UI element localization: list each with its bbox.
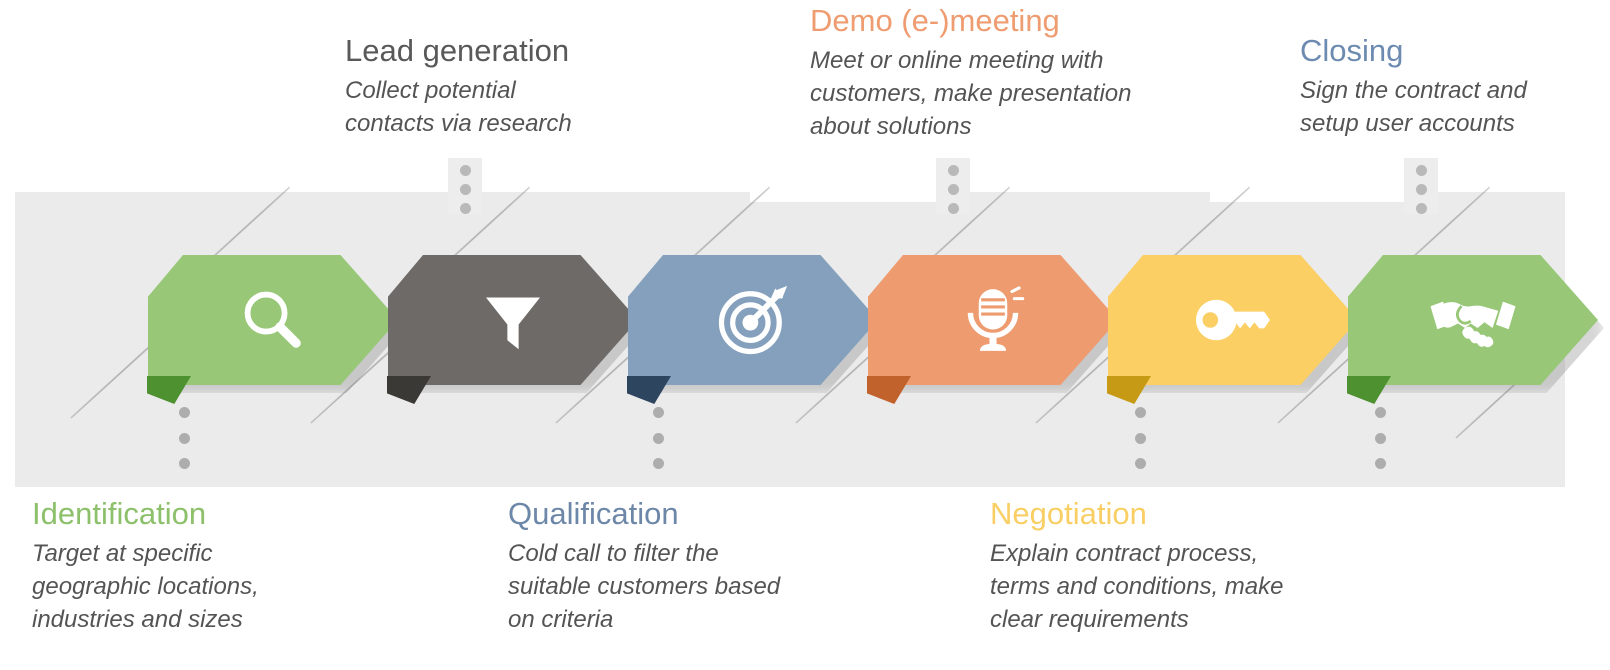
connector-dots-lead-generation xyxy=(448,158,482,214)
stage-arrow-lead-generation[interactable] xyxy=(388,255,638,385)
dot xyxy=(179,407,190,418)
caption-line: contacts via research xyxy=(345,107,665,140)
caption-line: Target at specific xyxy=(32,537,362,570)
caption-line: terms and conditions, make xyxy=(990,570,1350,603)
caption-description: Meet or online meeting with customers, m… xyxy=(810,44,1210,143)
connector-dots-closing-lower xyxy=(1363,407,1397,469)
dot xyxy=(948,165,959,176)
stage-arrow-demo-e-meeting[interactable] xyxy=(868,255,1118,385)
caption-title: Negotiation xyxy=(990,495,1350,533)
process-diagram: Lead generation Collect potential contac… xyxy=(0,0,1610,670)
caption-line: geographic locations, xyxy=(32,570,362,603)
dot xyxy=(653,433,664,444)
caption-title: Identification xyxy=(32,495,362,533)
caption-demo-e-meeting: Demo (e-)meeting Meet or online meeting … xyxy=(810,2,1210,143)
dot xyxy=(1416,184,1427,195)
caption-description: Target at specific geographic locations,… xyxy=(32,537,362,636)
caption-closing: Closing Sign the contract and setup user… xyxy=(1300,32,1610,140)
band-notch xyxy=(1210,192,1410,202)
connector-dots-qualification xyxy=(641,407,675,469)
stage-arrow-negotiation[interactable] xyxy=(1108,255,1358,385)
dot xyxy=(179,433,190,444)
caption-line: setup user accounts xyxy=(1300,107,1610,140)
caption-line: Cold call to filter the xyxy=(508,537,848,570)
dot xyxy=(1135,407,1146,418)
connector-dots-closing xyxy=(1404,158,1438,214)
caption-title: Demo (e-)meeting xyxy=(810,2,1210,40)
dot xyxy=(1375,458,1386,469)
dot xyxy=(948,184,959,195)
connector-dots-demo-e-meeting xyxy=(936,158,970,214)
dot xyxy=(1416,165,1427,176)
caption-line: on criteria xyxy=(508,603,848,636)
caption-qualification: Qualification Cold call to filter the su… xyxy=(508,495,848,636)
dot xyxy=(948,203,959,214)
caption-line: clear requirements xyxy=(990,603,1350,636)
band-notch xyxy=(750,192,955,202)
caption-description: Sign the contract and setup user account… xyxy=(1300,74,1610,140)
caption-line: Sign the contract and xyxy=(1300,74,1610,107)
dot xyxy=(1375,407,1386,418)
caption-line: Collect potential xyxy=(345,74,665,107)
caption-line: industries and sizes xyxy=(32,603,362,636)
dot xyxy=(653,458,664,469)
caption-line: about solutions xyxy=(810,110,1210,143)
caption-lead-generation: Lead generation Collect potential contac… xyxy=(345,32,665,140)
dot xyxy=(1135,433,1146,444)
dot xyxy=(1375,433,1386,444)
dot xyxy=(653,407,664,418)
dot xyxy=(460,184,471,195)
connector-dots-identification xyxy=(167,407,201,469)
caption-description: Explain contract process, terms and cond… xyxy=(990,537,1350,636)
dot xyxy=(460,165,471,176)
dot xyxy=(1135,458,1146,469)
caption-identification: Identification Target at specific geogra… xyxy=(32,495,362,636)
dot xyxy=(1416,203,1427,214)
caption-title: Qualification xyxy=(508,495,848,533)
dot xyxy=(179,458,190,469)
caption-line: Meet or online meeting with xyxy=(810,44,1210,77)
caption-line: Explain contract process, xyxy=(990,537,1350,570)
caption-description: Cold call to filter the suitable custome… xyxy=(508,537,848,636)
caption-description: Collect potential contacts via research xyxy=(345,74,665,140)
caption-title: Lead generation xyxy=(345,32,665,70)
caption-line: suitable customers based xyxy=(508,570,848,603)
caption-title: Closing xyxy=(1300,32,1610,70)
stage-arrow-qualification[interactable] xyxy=(628,255,878,385)
connector-dots-negotiation xyxy=(1123,407,1157,469)
dot xyxy=(460,203,471,214)
caption-line: customers, make presentation xyxy=(810,77,1210,110)
stage-arrow-identification[interactable] xyxy=(148,255,398,385)
caption-negotiation: Negotiation Explain contract process, te… xyxy=(990,495,1350,636)
stage-arrow-closing[interactable] xyxy=(1348,255,1598,385)
